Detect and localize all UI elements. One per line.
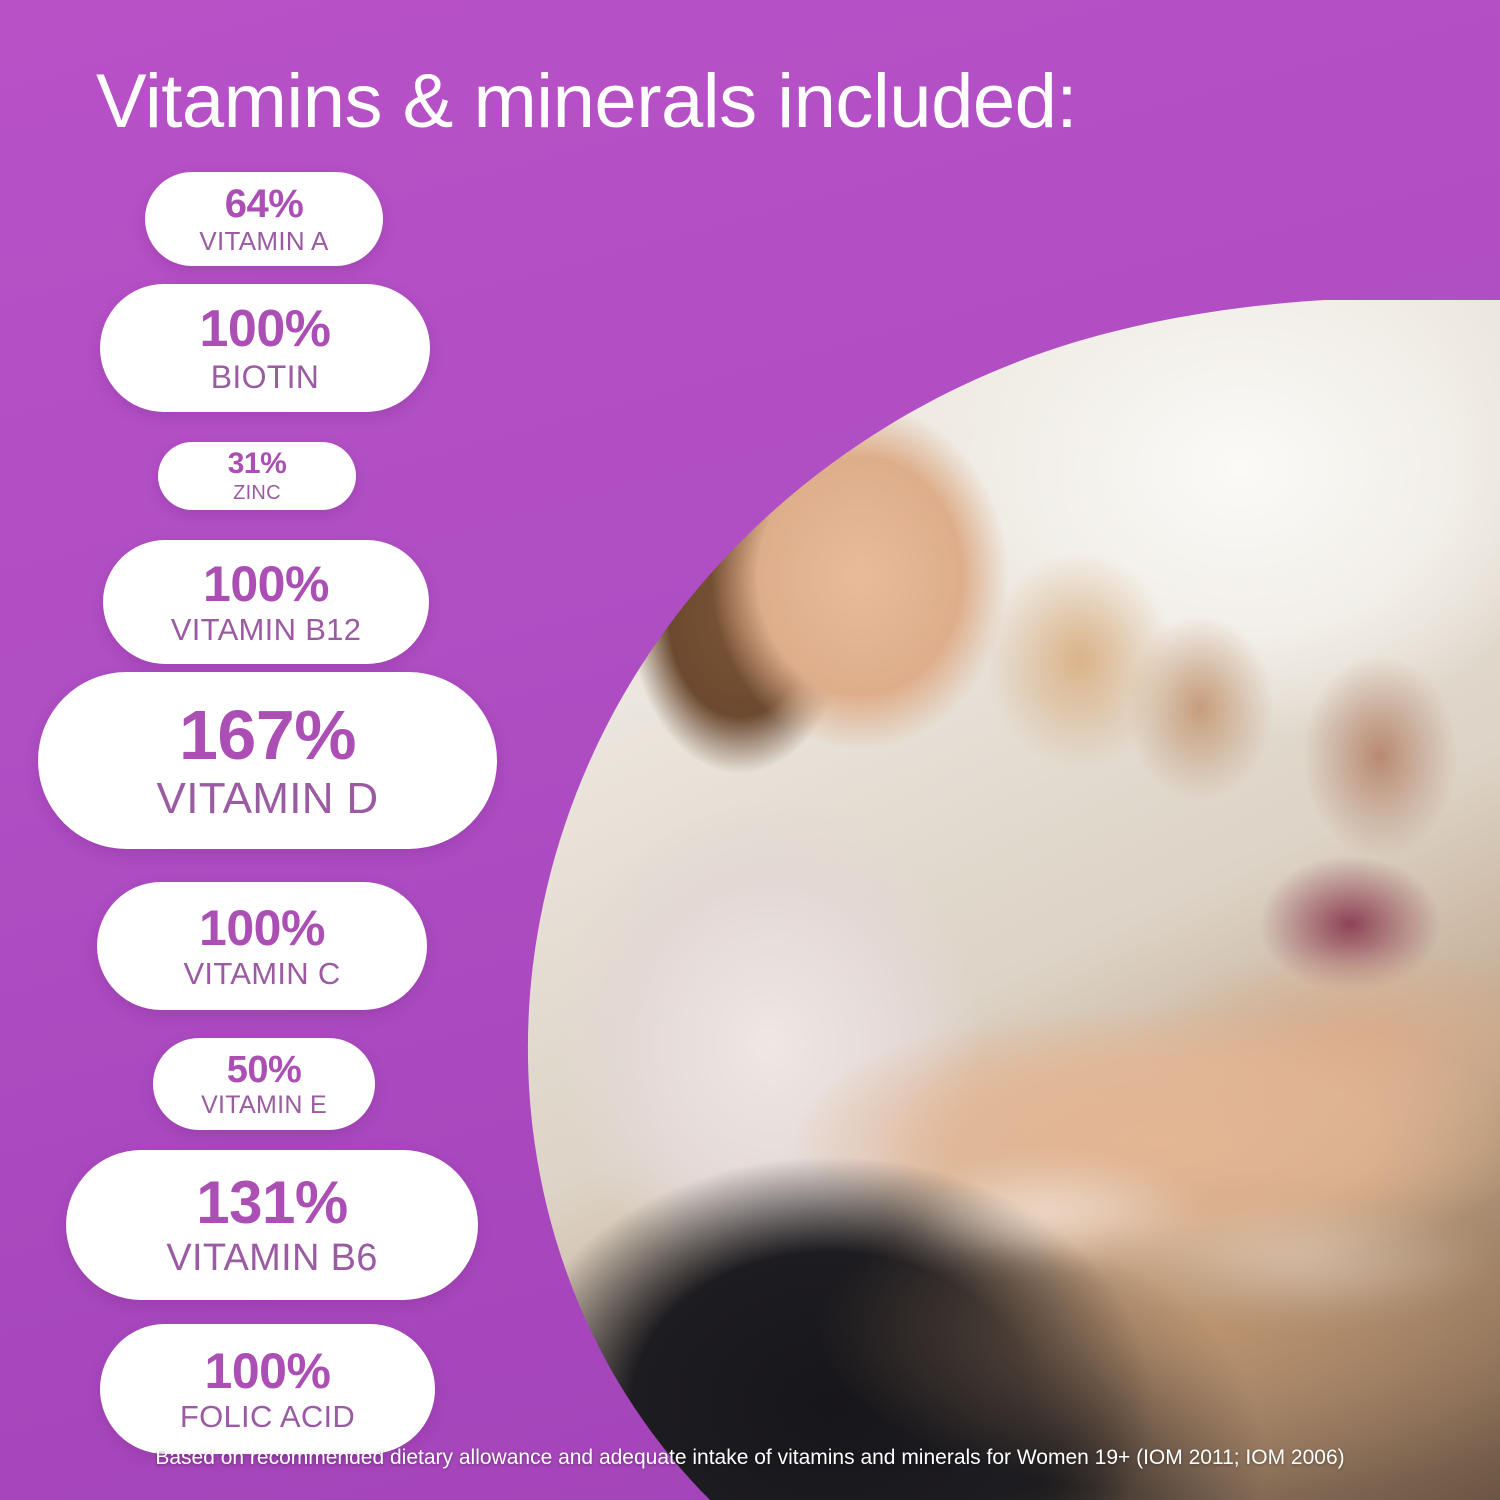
nutrient-percent: 100% (203, 559, 329, 609)
nutrient-label: VITAMIN C (183, 958, 340, 989)
nutrient-pill-vitamin-c: 100% VITAMIN C (97, 882, 427, 1010)
vitamins-infographic-poster: Vitamins & minerals included: 64% VITAMI… (0, 0, 1500, 1500)
nutrient-label: BIOTIN (211, 361, 319, 393)
nutrient-pill-vitamin-b6: 131% VITAMIN B6 (66, 1150, 478, 1300)
nutrient-label: ZINC (233, 483, 281, 503)
nutrient-percent: 50% (227, 1051, 302, 1089)
nutrient-percent: 100% (199, 903, 325, 953)
nutrient-label: VITAMIN B12 (171, 614, 362, 645)
nutrient-label: VITAMIN B6 (166, 1239, 377, 1277)
nutrient-label: FOLIC ACID (180, 1401, 355, 1432)
nutrient-label: VITAMIN A (199, 228, 328, 254)
nutrient-pill-vitamin-a: 64% VITAMIN A (145, 172, 383, 266)
nutrient-pill-vitamin-e: 50% VITAMIN E (153, 1038, 375, 1130)
nutrient-label: VITAMIN E (201, 1093, 327, 1118)
yoga-class-photo (500, 300, 1500, 1500)
nutrient-percent: 100% (205, 1346, 331, 1396)
nutrient-percent: 64% (225, 184, 304, 224)
footnote-disclaimer: Based on recommended dietary allowance a… (0, 1446, 1500, 1470)
page-title: Vitamins & minerals included: (96, 62, 1436, 141)
nutrient-percent: 100% (200, 303, 331, 355)
nutrient-pill-folic-acid: 100% FOLIC ACID (100, 1324, 435, 1454)
nutrient-percent: 31% (228, 449, 287, 479)
photo-blur-overlay (500, 300, 1500, 1500)
nutrient-label: VITAMIN D (157, 777, 379, 821)
nutrient-pill-vitamin-d: 167% VITAMIN D (38, 672, 497, 849)
nutrient-percent: 131% (196, 1173, 347, 1233)
nutrient-pill-biotin: 100% BIOTIN (100, 284, 430, 412)
nutrient-pill-vitamin-b12: 100% VITAMIN B12 (103, 540, 429, 664)
nutrient-percent: 167% (179, 700, 356, 770)
nutrient-pill-zinc: 31% ZINC (158, 442, 356, 510)
